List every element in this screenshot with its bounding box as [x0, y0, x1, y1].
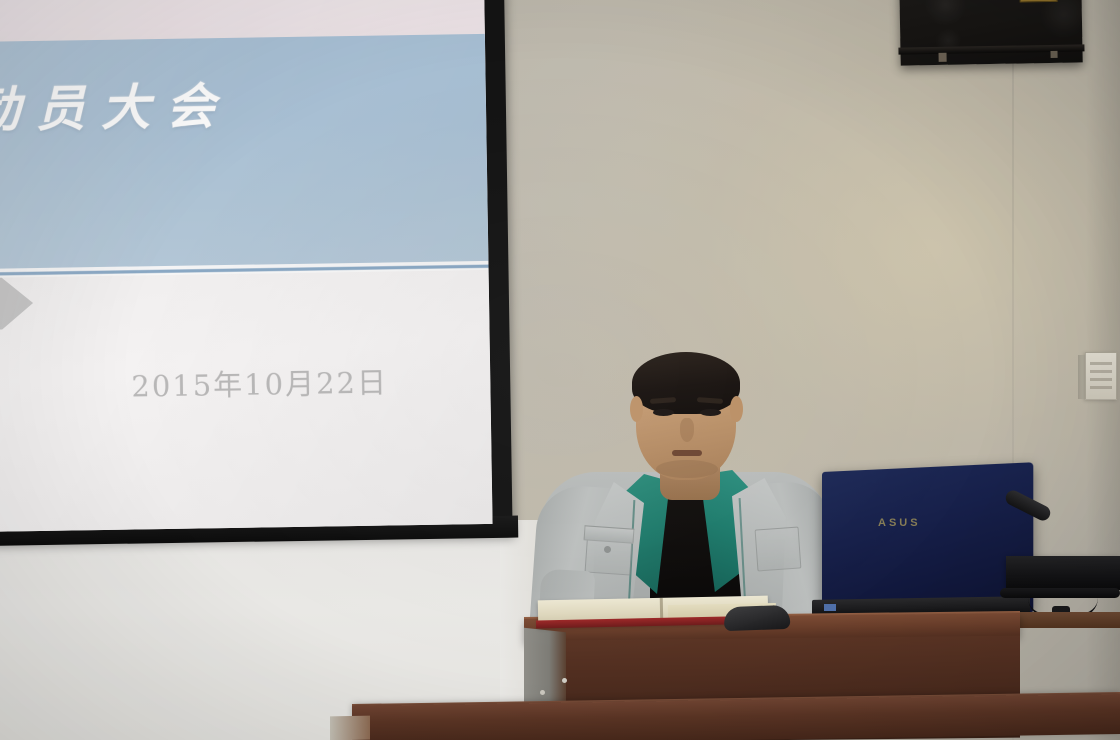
front-desk-left-support: [330, 716, 370, 740]
presenter-chest-pocket-right: [755, 527, 802, 572]
laptop-brand-logo: ASUS: [878, 517, 921, 529]
laptop-port: [824, 604, 836, 611]
podium-screw-upper: [562, 678, 567, 683]
presenter-mouth: [672, 450, 702, 456]
presenter-ear-right: [730, 396, 743, 422]
presenter-nose: [680, 418, 694, 442]
photo-scene: 训动员大会 2015年10月22日 SOUND: [0, 0, 1120, 740]
presenter-chin-shadow: [656, 460, 718, 478]
presenter-eye-left: [653, 409, 674, 416]
presenter-hair: [632, 352, 740, 414]
av-front-bar: [1000, 588, 1120, 598]
podium-screw-lower: [540, 690, 545, 695]
av-amplifier-unit: DSPPA: [1006, 556, 1120, 590]
presenter-pocket-button: [604, 546, 611, 553]
computer-mouse[interactable]: [724, 605, 791, 631]
presenter-eye-right: [700, 409, 721, 416]
presenter-ear-left: [630, 396, 643, 422]
